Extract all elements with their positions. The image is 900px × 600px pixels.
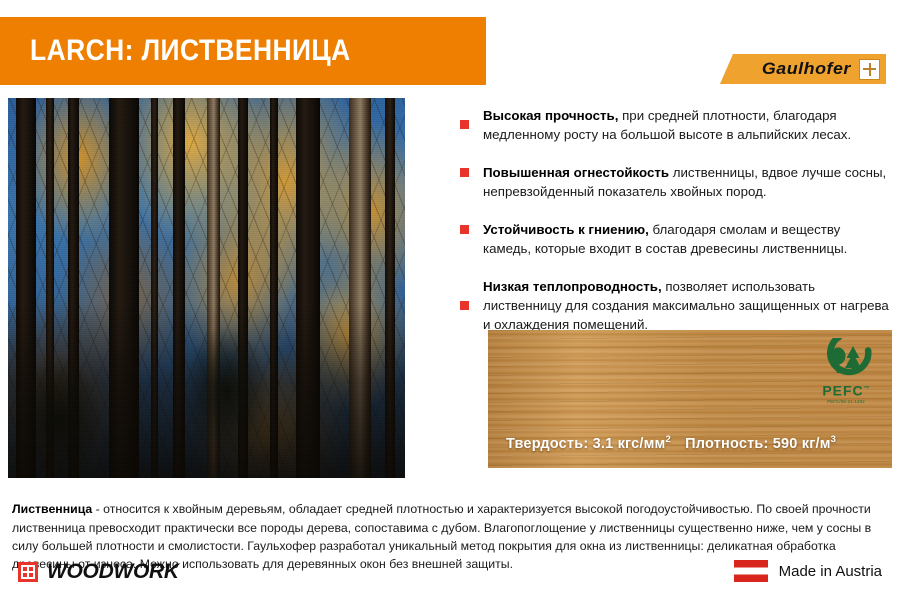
pefc-word-text: PEFC: [822, 383, 863, 399]
bullet-lead: Устойчивость к гниению,: [483, 222, 649, 237]
hardness-value: 3.1 кгс/мм: [593, 436, 666, 452]
list-item: Устойчивость к гниению, благодаря смолам…: [460, 220, 890, 258]
forest-photo: [8, 98, 405, 478]
window-grid-icon: [18, 562, 38, 582]
header-banner: LARCH: ЛИСТВЕННИЦА: [0, 17, 486, 85]
wood-specs: Твердость: 3.1 кгс/мм2 Плотность: 590 кг…: [506, 434, 836, 452]
description-lead: Лиственница: [12, 502, 92, 516]
density-value: 590 кг/м: [773, 436, 831, 452]
bullet-square-icon: [460, 120, 469, 129]
bullet-lead: Повышенная огнестойкость: [483, 165, 669, 180]
bullet-text: Повышенная огнестойкость лиственницы, вд…: [483, 163, 890, 201]
window-icon: [859, 59, 880, 80]
pefc-wordmark: PEFC™: [812, 382, 880, 398]
page-title-text: LARCH: ЛИСТВЕННИЦА: [30, 34, 351, 68]
austria-flag-icon: [734, 560, 768, 582]
photo-grain-overlay: [8, 98, 405, 478]
bullet-text: Устойчивость к гниению, благодаря смолам…: [483, 220, 890, 258]
density-unit-exponent: 3: [831, 434, 836, 445]
page-title: LARCH: ЛИСТВЕННИЦА: [30, 34, 394, 68]
footer-origin: Made in Austria: [734, 560, 882, 582]
pefc-trademark: ™: [864, 386, 870, 392]
bullet-square-icon: [460, 301, 469, 310]
list-item: Повышенная огнестойкость лиственницы, вд…: [460, 163, 890, 201]
bullet-square-icon: [460, 168, 469, 177]
pefc-certification-logo: PEFC™ PEFC/06-31-1392: [812, 338, 880, 404]
pefc-subtitle: PEFC/06-31-1392: [812, 399, 880, 405]
bullet-square-icon: [460, 225, 469, 234]
feature-bullet-list: Высокая прочность, при средней плотности…: [460, 106, 890, 353]
list-item: Низкая теплопроводность, позволяет испол…: [460, 277, 890, 334]
footer-brand: WOODWORK: [18, 560, 179, 584]
bullet-text: Высокая прочность, при средней плотности…: [483, 106, 890, 144]
bullet-lead: Высокая прочность,: [483, 108, 618, 123]
hardness-label: Твердость:: [506, 436, 588, 452]
woodwork-wordmark: WOODWORK: [47, 560, 179, 584]
bullet-lead: Низкая теплопроводность,: [483, 279, 662, 294]
gaulhofer-logo: Gaulhofer: [720, 54, 886, 84]
list-item: Высокая прочность, при средней плотности…: [460, 106, 890, 144]
hardness-unit-exponent: 2: [665, 434, 670, 445]
density-label: Плотность:: [685, 436, 768, 452]
gaulhofer-wordmark: Gaulhofer: [762, 59, 851, 79]
made-in-label: Made in Austria: [779, 563, 882, 580]
bullet-text: Низкая теплопроводность, позволяет испол…: [483, 277, 890, 334]
wood-sample-swatch: PEFC™ PEFC/06-31-1392 Твердость: 3.1 кгс…: [488, 330, 892, 468]
pefc-tree-icon: [812, 338, 880, 382]
